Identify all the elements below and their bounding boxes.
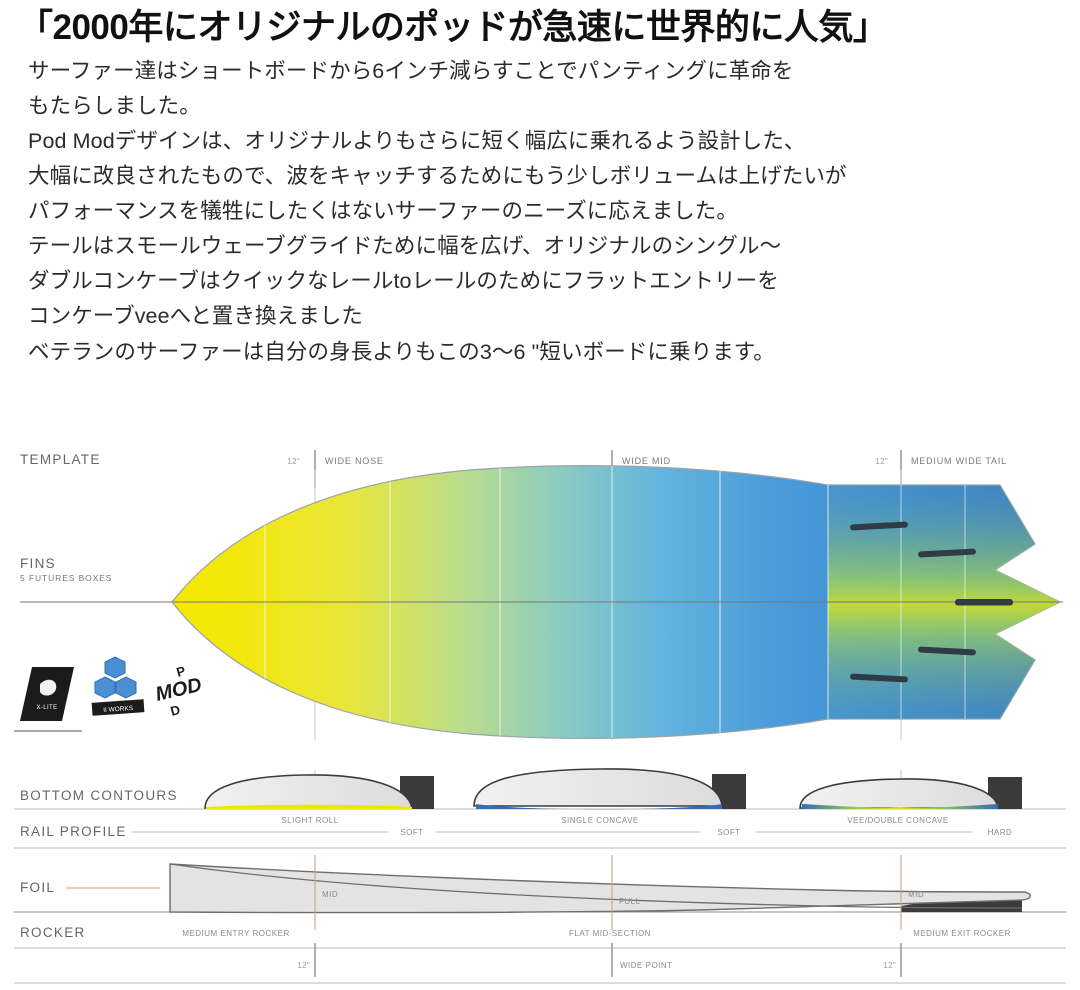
row-label-bottom-contours: BOTTOM CONTOURS [20, 788, 178, 803]
contour-shape-slight-roll [205, 775, 412, 808]
contour-section-3 [800, 770, 1022, 809]
pod-mod-logo-mod: MOD [153, 674, 203, 706]
row-label-foil: FOIL [20, 880, 55, 895]
contour-section-2 [474, 769, 746, 809]
article-body: サーファー達はショートボードから6インチ減らすことでパンティングに革命を もたら… [18, 54, 1062, 369]
ruler-label-3: 12" [883, 961, 896, 970]
contour-shape-single-concave [474, 769, 722, 806]
x-lite-logo: X-LITE [14, 667, 82, 731]
contour-label-1: SLIGHT ROLL [281, 816, 338, 825]
body-line: ベテランのサーファーは自分の身長よりもこの3〜6 "短いボードに乗ります。 [18, 335, 1062, 370]
surfboard-spec-diagram: TEMPLATE 12" WIDE NOSE WIDE MID 12" MEDI… [0, 440, 1080, 990]
body-line: もたらしました。 [18, 89, 1062, 124]
contour-shape-vee-double-concave [800, 779, 998, 808]
pod-mod-logo: P MOD D [153, 663, 203, 719]
foil-marker-3: MID [908, 890, 924, 899]
fins-row: FINS 5 FUTURES BOXES [20, 556, 112, 583]
body-line: コンケーブveeへと置き換えました [18, 299, 1062, 334]
rocker-label-1: MEDIUM ENTRY ROCKER [182, 929, 289, 938]
x-lite-logo-text: X-LITE [36, 705, 57, 711]
spec-sheet-page: 「2000年にオリジナルのポッドが急速に世界的に人気」 サーファー達はショートボ… [0, 0, 1080, 990]
row-label-rocker: ROCKER [20, 925, 86, 940]
honeycomb-logo: II WORKS [92, 657, 145, 716]
brand-logos: X-LITE II WORKS P MOD D [14, 657, 204, 731]
body-line: テールはスモールウェーブグライドために幅を広げ、オリジナルのシングル〜 [18, 229, 1062, 264]
contour-section-1 [205, 770, 434, 809]
rail-label-2: SOFT [717, 828, 740, 837]
rail-label-3: HARD [988, 828, 1013, 837]
contour-label-3: VEE/DOUBLE CONCAVE [847, 816, 948, 825]
body-line: パフォーマンスを犠牲にしたくはないサーファーのニーズに応えました。 [18, 194, 1062, 229]
body-line: 大幅に改良されたもので、波をキャッチするためにもう少しボリュームは上げたいが [18, 159, 1062, 194]
body-line: サーファー達はショートボードから6インチ減らすことでパンティングに革命を [18, 54, 1062, 89]
contour-label-2: SINGLE CONCAVE [561, 816, 639, 825]
ruler-label-1: 12" [297, 961, 310, 970]
rocker-label-3: MEDIUM EXIT ROCKER [913, 929, 1011, 938]
template-mid-label: WIDE MID [622, 456, 671, 466]
template-tail-label: MEDIUM WIDE TAIL [911, 456, 1007, 466]
bottom-contours-row: BOTTOM CONTOURS SLIGHT [14, 769, 1066, 825]
pod-mod-logo-d: D [169, 702, 182, 719]
template-nose-tick-label: 12" [287, 457, 300, 466]
bottom-ruler-row: 12" WIDE POINT 12" [14, 943, 1066, 983]
template-tail-tick-label: 12" [875, 457, 888, 466]
article-text-block: 「2000年にオリジナルのポッドが急速に世界的に人気」 サーファー達はショートボ… [0, 0, 1080, 440]
fin-box-center [955, 599, 1013, 606]
rocker-label-2: FLAT MID-SECTION [569, 929, 651, 938]
rail-label-1: SOFT [400, 828, 423, 837]
row-label-template: TEMPLATE [20, 452, 101, 467]
page-title: 「2000年にオリジナルのポッドが急速に世界的に人気」 [18, 8, 1062, 48]
row-label-rail-profile: RAIL PROFILE [20, 824, 127, 839]
template-nose-label: WIDE NOSE [325, 456, 384, 466]
foil-marker-2: FULL [619, 897, 641, 906]
row-label-fins: FINS [20, 556, 56, 571]
body-line: Pod Modデザインは、オリジナルよりもさらに短く幅広に乗れるよう設計した、 [18, 124, 1062, 159]
fins-sublabel: 5 FUTURES BOXES [20, 573, 112, 583]
rail-profile-row: RAIL PROFILE SOFT SOFT HARD [14, 824, 1066, 848]
foil-marker-1: MID [322, 890, 338, 899]
foil-rocker-row: FOIL MID FULL MID ROCKER MEDIUM ENTRY RO… [14, 855, 1066, 948]
body-line: ダブルコンケーブはクイックなレールtoレールのためにフラットエントリーを [18, 264, 1062, 299]
ruler-label-2: WIDE POINT [620, 961, 673, 970]
